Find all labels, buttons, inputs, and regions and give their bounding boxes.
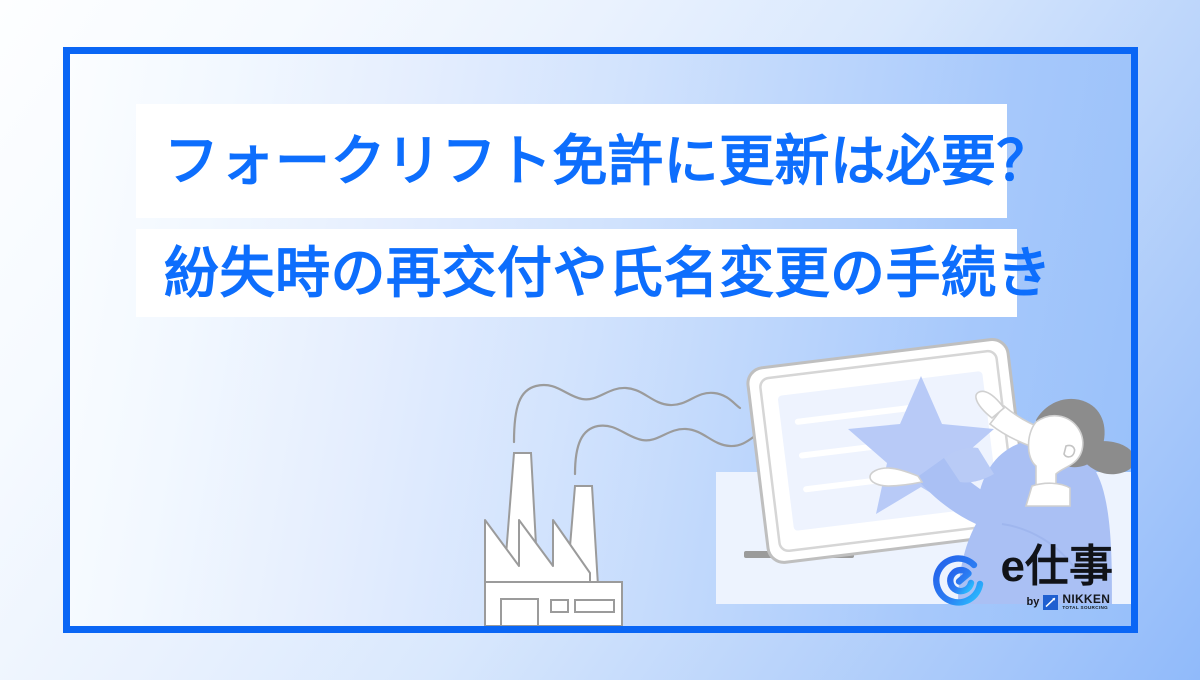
tablet-text-lines bbox=[798, 402, 964, 489]
desk-edge-bar bbox=[744, 551, 854, 558]
tablet-screen bbox=[759, 350, 1016, 552]
person-hair bbox=[1036, 399, 1105, 467]
factory-door bbox=[501, 599, 538, 626]
person-arm-lower bbox=[916, 458, 992, 524]
smoke-wave-lower bbox=[575, 426, 764, 474]
title-box-line-1: フォークリフト免許に更新は必要？ bbox=[136, 104, 1007, 218]
byline-brand-column: NIKKEN TOTAL SOURCING bbox=[1062, 593, 1110, 612]
person-arm-upper bbox=[990, 406, 1042, 446]
person-ear bbox=[1064, 445, 1075, 456]
factory-body-base bbox=[485, 582, 622, 626]
banner-frame: フォークリフト免許に更新は必要？ 紛失時の再交付や氏名変更の手続き bbox=[63, 47, 1138, 633]
factory-smokestack-short bbox=[564, 486, 600, 619]
factory-smokestack-tall bbox=[501, 453, 540, 619]
logo-wordmark: e仕事 bbox=[1001, 545, 1113, 589]
star-badge bbox=[848, 376, 994, 514]
byline-prefix: by bbox=[1027, 597, 1040, 608]
byline-brand: NIKKEN bbox=[1062, 593, 1110, 605]
factory-window-small bbox=[551, 600, 568, 612]
tablet-device bbox=[746, 338, 1030, 564]
person-sleeve bbox=[944, 447, 994, 482]
person-hand-upper bbox=[976, 391, 1004, 418]
logo-text-column: e仕事 by NIKKEN TOTAL SOURCING bbox=[1001, 545, 1113, 612]
smoke-wave-upper bbox=[514, 385, 740, 442]
byline-sub: TOTAL SOURCING bbox=[1062, 605, 1110, 612]
person-collar bbox=[1026, 483, 1070, 506]
e-circle-mark-icon bbox=[933, 551, 989, 607]
tablet-content-area bbox=[778, 371, 999, 531]
brand-logo[interactable]: e仕事 by NIKKEN TOTAL SOURCING bbox=[933, 545, 1113, 612]
title-line-1-text: フォークリフト免許に更新は必要？ bbox=[164, 134, 1052, 189]
tablet-shell bbox=[746, 338, 1030, 564]
logo-byline: by NIKKEN TOTAL SOURCING bbox=[1027, 593, 1111, 612]
title-stack: フォークリフト免許に更新は必要？ 紛失時の再交付や氏名変更の手続き bbox=[136, 104, 1017, 317]
person-ponytail bbox=[1080, 441, 1131, 474]
banner-canvas: フォークリフト免許に更新は必要？ 紛失時の再交付や氏名変更の手続き bbox=[0, 0, 1200, 680]
title-line-2-text: 紛失時の再交付や氏名変更の手続き bbox=[164, 246, 1052, 301]
title-box-line-2: 紛失時の再交付や氏名変更の手続き bbox=[136, 229, 1017, 317]
person-hand-lower bbox=[870, 468, 922, 486]
nikken-badge-icon bbox=[1043, 595, 1058, 610]
person-face bbox=[1029, 416, 1083, 490]
factory-building bbox=[485, 520, 622, 626]
factory-window-wide bbox=[575, 600, 614, 612]
